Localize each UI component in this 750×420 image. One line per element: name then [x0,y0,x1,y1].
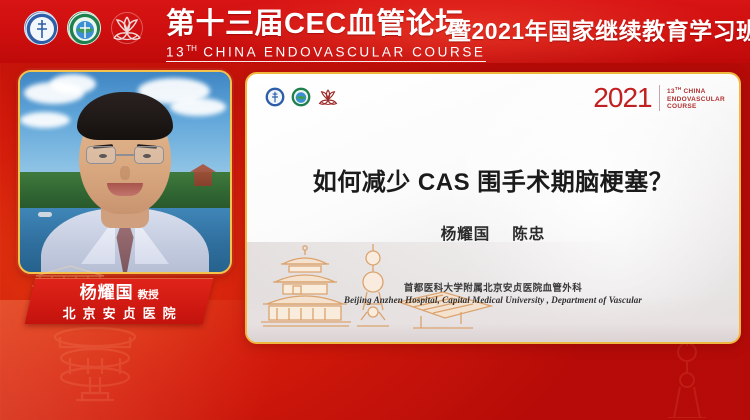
capital-medical-university-logo [24,11,58,45]
cec-lotus-logo [317,86,339,108]
slide-year-number: 2021 [593,84,651,112]
speaker-video-panel[interactable] [18,70,232,274]
speaker-glasses [86,146,164,164]
cec-lotus-logo [110,11,144,45]
lantern-watermark [30,311,160,416]
header-logo-group [24,11,144,45]
slide-title: 如何减少 CAS 围手术期脑梗塞？ [247,162,739,197]
slide-affiliation-cn: 首都医科大学附属北京安贞医院血管外科 [247,280,739,294]
event-title-en: 13TH CHINA ENDOVASCULAR COURSE [166,41,486,62]
slide-logo-group [265,86,339,108]
nameplate-name-row: 杨耀国教授 [30,283,208,305]
event-title-cn: 第十三届CEC血管论坛 [166,8,486,40]
slide-year-badge: 2021 13TH CHINA ENDOVASCULAR COURSE [593,84,725,112]
slide-author-1: 杨耀国 [441,226,491,243]
speaker-nameplate: 杨耀国教授 北京安贞医院 [25,278,214,324]
presentation-slide[interactable]: 2021 13TH CHINA ENDOVASCULAR COURSE 如何减少… [245,72,741,344]
speaker-figure [20,72,230,272]
nameplate-speaker-name: 杨耀国 [80,283,134,302]
speaker-nose [120,166,130,180]
capital-medical-university-logo [265,87,285,107]
slide-author-2: 陈忠 [512,226,545,243]
speaker-hair [77,92,173,140]
nameplate-affiliation: 北京安贞医院 [30,305,208,322]
slide-year-caption: 13TH CHINA ENDOVASCULAR COURSE [667,85,725,111]
slide-affiliation-en: Beijing Anzhen Hospital, Capital Medical… [247,295,739,305]
event-subtitle-cn: 暨2021年国家继续教育学习班 [448,17,750,45]
beijing-anzhen-hospital-logo [291,87,311,107]
slide-authors: 杨耀国陈忠 [247,222,739,244]
slide-year-divider [659,85,660,111]
beijing-anzhen-hospital-logo [67,11,101,45]
broadcast-stage: 第十三届CEC血管论坛 13TH CHINA ENDOVASCULAR COUR… [0,0,750,420]
nameplate-speaker-role: 教授 [138,289,159,301]
header-title-block: 第十三届CEC血管论坛 13TH CHINA ENDOVASCULAR COUR… [166,8,486,62]
event-header-banner: 第十三届CEC血管论坛 13TH CHINA ENDOVASCULAR COUR… [0,0,750,63]
